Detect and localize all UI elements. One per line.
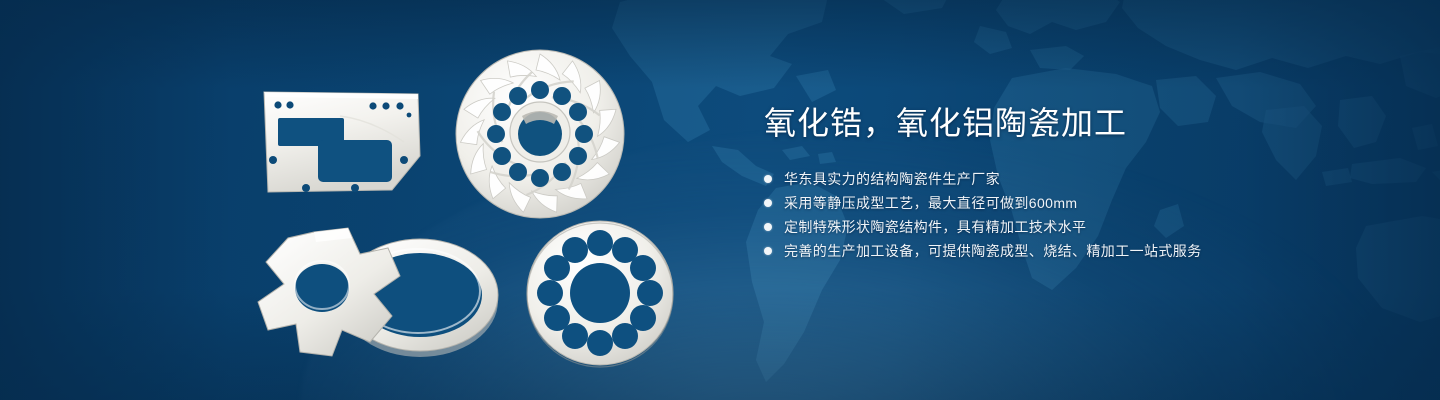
banner-copy: 氧化锆，氧化铝陶瓷加工 华东具实力的结构陶瓷件生产厂家 采用等静压成型工艺，最大… — [764, 104, 1384, 264]
feature-text: 华东具实力的结构陶瓷件生产厂家 — [784, 169, 1000, 189]
feature-list-item: 采用等静压成型工艺，最大直径可做到600mm — [764, 192, 1384, 214]
feature-text: 采用等静压成型工艺，最大直径可做到600mm — [784, 193, 1077, 213]
feature-list-item: 华东具实力的结构陶瓷件生产厂家 — [764, 168, 1384, 190]
hero-banner: 氧化锆，氧化铝陶瓷加工 华东具实力的结构陶瓷件生产厂家 采用等静压成型工艺，最大… — [0, 0, 1440, 400]
ceramic-perforated-disc-shape — [527, 221, 673, 367]
feature-list-item: 定制特殊形状陶瓷结构件，具有精加工技术水平 — [764, 216, 1384, 238]
ceramic-plate-shape — [264, 92, 420, 192]
bullet-dot-icon — [764, 199, 772, 207]
feature-list-item: 完善的生产加工设备，可提供陶瓷成型、烧结、精加工一站式服务 — [764, 240, 1384, 262]
feature-text: 完善的生产加工设备，可提供陶瓷成型、烧结、精加工一站式服务 — [784, 241, 1202, 261]
bullet-dot-icon — [764, 223, 772, 231]
feature-list: 华东具实力的结构陶瓷件生产厂家 采用等静压成型工艺，最大直径可做到600mm 定… — [764, 168, 1384, 262]
ceramic-impeller-shape — [456, 50, 624, 218]
bullet-dot-icon — [764, 247, 772, 255]
banner-headline: 氧化锆，氧化铝陶瓷加工 — [764, 104, 1384, 142]
bullet-dot-icon — [764, 175, 772, 183]
product-photo-group — [0, 0, 740, 400]
feature-text: 定制特殊形状陶瓷结构件，具有精加工技术水平 — [784, 217, 1086, 237]
